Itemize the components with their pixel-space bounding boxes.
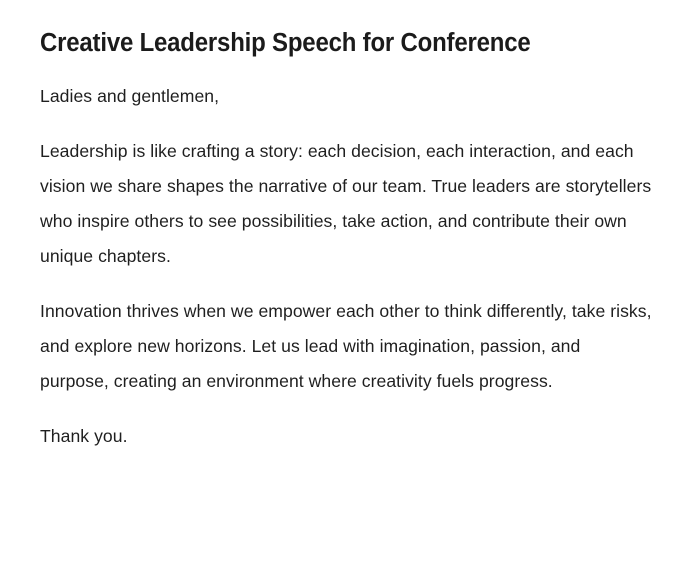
paragraph-closing: Thank you. <box>40 419 652 454</box>
document-page: Creative Leadership Speech for Conferenc… <box>0 0 700 561</box>
document-body: Ladies and gentlemen, Leadership is like… <box>40 79 652 454</box>
paragraph-salutation: Ladies and gentlemen, <box>40 79 652 114</box>
paragraph-leadership-storytelling: Leadership is like crafting a story: eac… <box>40 134 652 274</box>
page-title: Creative Leadership Speech for Conferenc… <box>40 26 623 60</box>
paragraph-innovation: Innovation thrives when we empower each … <box>40 294 652 399</box>
